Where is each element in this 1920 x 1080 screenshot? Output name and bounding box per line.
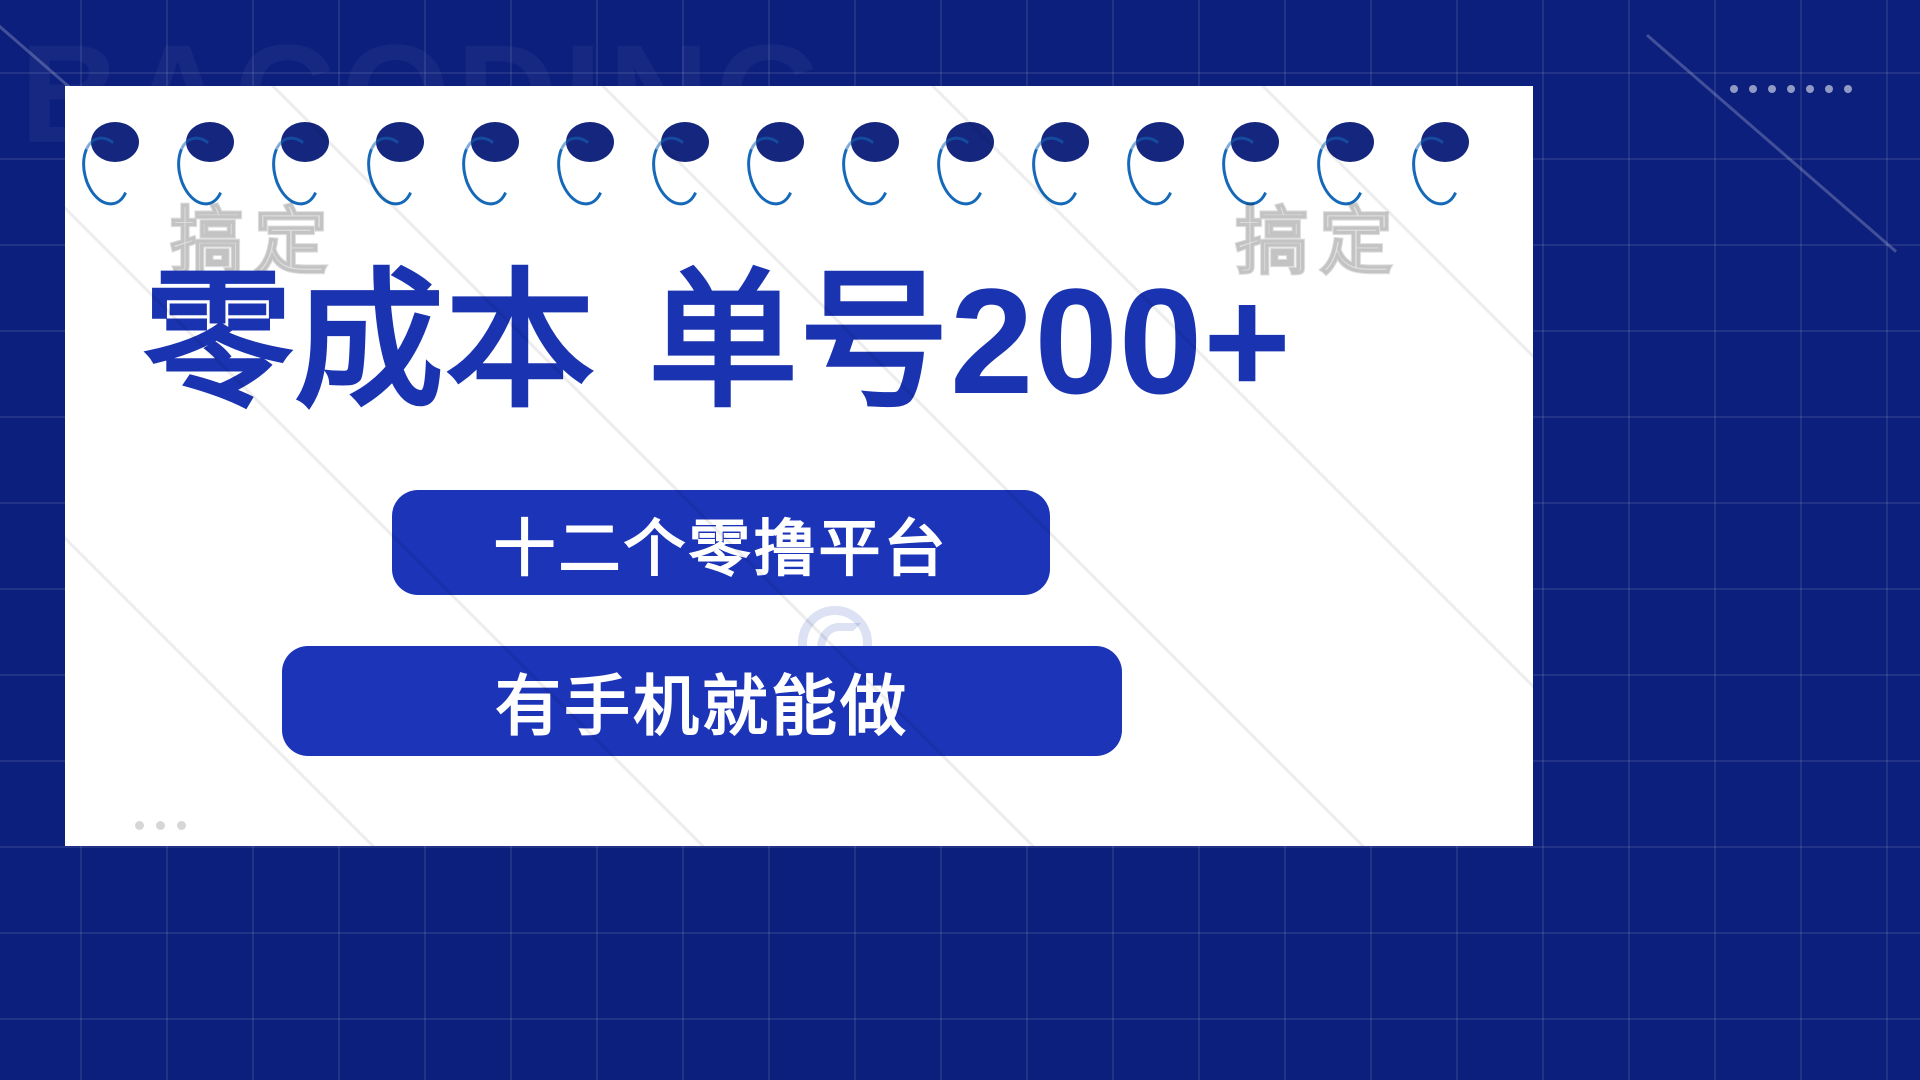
- headline-part-2: 单号200+: [648, 257, 1292, 425]
- headline-part-1: 零成本: [143, 257, 596, 425]
- spiral-ring: [1025, 131, 1087, 210]
- dot: [1844, 85, 1852, 93]
- spiral-ring: [1405, 131, 1467, 210]
- spiral-ring: [550, 131, 612, 210]
- poster-canvas: BACODING 搞定 搞定 零成本单号200+ 十二个零撸平台 有手机就能做: [0, 0, 1920, 1080]
- dot: [1730, 85, 1738, 93]
- feature-pill-phone-only[interactable]: 有手机就能做: [282, 646, 1122, 756]
- decorative-dots-top-right: [1730, 85, 1852, 93]
- spiral-ring: [740, 131, 802, 210]
- dot: [177, 821, 186, 830]
- feature-pill-platforms[interactable]: 十二个零撸平台: [392, 490, 1050, 595]
- spiral-ring: [1120, 131, 1182, 210]
- dot: [1749, 85, 1757, 93]
- spiral-ring: [1215, 131, 1277, 210]
- spiral-ring: [360, 131, 422, 210]
- decorative-dots-bottom-left: [135, 821, 186, 830]
- spiral-ring: [645, 131, 707, 210]
- spiral-ring: [930, 131, 992, 210]
- page-title: 零成本单号200+: [143, 260, 1483, 422]
- dot: [156, 821, 165, 830]
- spiral-ring: [170, 131, 232, 210]
- spiral-ring: [835, 131, 897, 210]
- spiral-ring: [455, 131, 517, 210]
- spiral-binding-rings: [91, 136, 1511, 216]
- notebook-paper-card: 搞定 搞定 零成本单号200+ 十二个零撸平台 有手机就能做: [65, 86, 1533, 846]
- spiral-ring: [1310, 131, 1372, 210]
- spiral-ring: [75, 131, 137, 210]
- dot: [1787, 85, 1795, 93]
- dot: [1768, 85, 1776, 93]
- dot: [1825, 85, 1833, 93]
- dot: [1806, 85, 1814, 93]
- spiral-ring: [265, 131, 327, 210]
- dot: [135, 821, 144, 830]
